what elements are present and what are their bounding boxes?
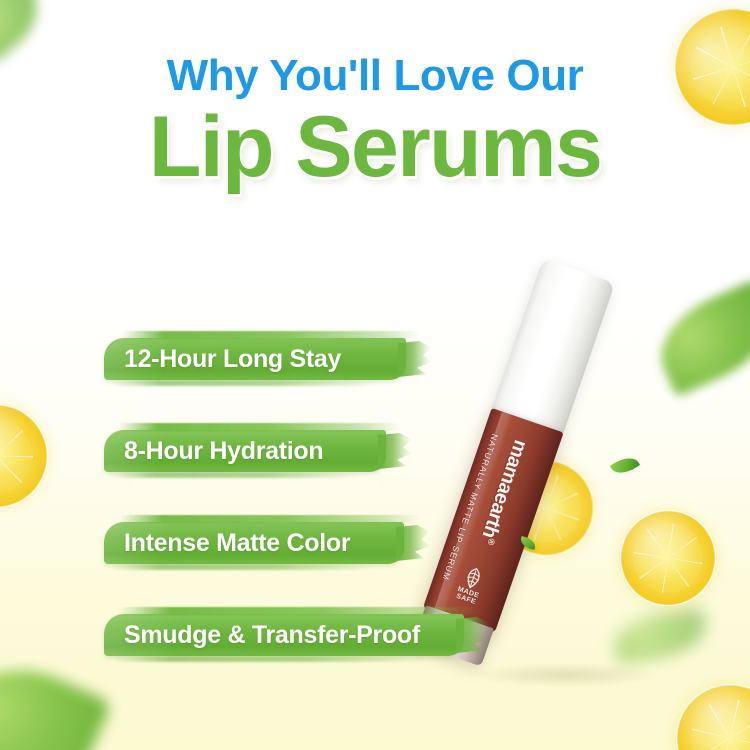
lemon-slice-icon — [0, 404, 48, 508]
list-item: 12-Hour Long Stay — [104, 334, 442, 384]
feature-label: 8-Hour Hydration — [104, 437, 345, 466]
brush-streak-shape — [112, 380, 380, 386]
promo-banner: Why You'll Love Our Lip Serums 12-Hour L… — [0, 0, 750, 750]
brush-streak-shape — [110, 472, 360, 478]
brush-streak-shape — [112, 656, 430, 662]
bottle-barrel: mamaearth® NATURALLY MATTE LIP SERUM — [423, 408, 564, 633]
leaf-icon — [0, 642, 112, 750]
list-item: 8-Hour Hydration — [104, 426, 442, 476]
bottle-cap — [490, 259, 615, 439]
brush-streak-shape — [120, 515, 420, 523]
headline-subtitle: Why You'll Love Our — [0, 54, 750, 98]
list-item: Smudge & Transfer-Proof — [104, 610, 442, 660]
headline-group: Why You'll Love Our Lip Serums — [0, 54, 750, 190]
brush-streak-shape — [120, 607, 478, 615]
brush-streak-shape — [122, 331, 420, 339]
feature-label: Smudge & Transfer-Proof — [104, 621, 442, 650]
list-item: Intense Matte Color — [104, 518, 442, 568]
feature-label: 12-Hour Long Stay — [104, 345, 363, 374]
feature-list: 12-Hour Long Stay 8-Hour Hydration Inten… — [104, 334, 442, 660]
leaf-icon — [646, 279, 750, 397]
feature-label: Intense Matte Color — [104, 529, 372, 558]
page-title: Lip Serums — [0, 104, 750, 190]
lemon-slice-icon — [666, 674, 750, 750]
brush-streak-shape — [118, 423, 400, 431]
brush-streak-shape — [112, 564, 374, 570]
